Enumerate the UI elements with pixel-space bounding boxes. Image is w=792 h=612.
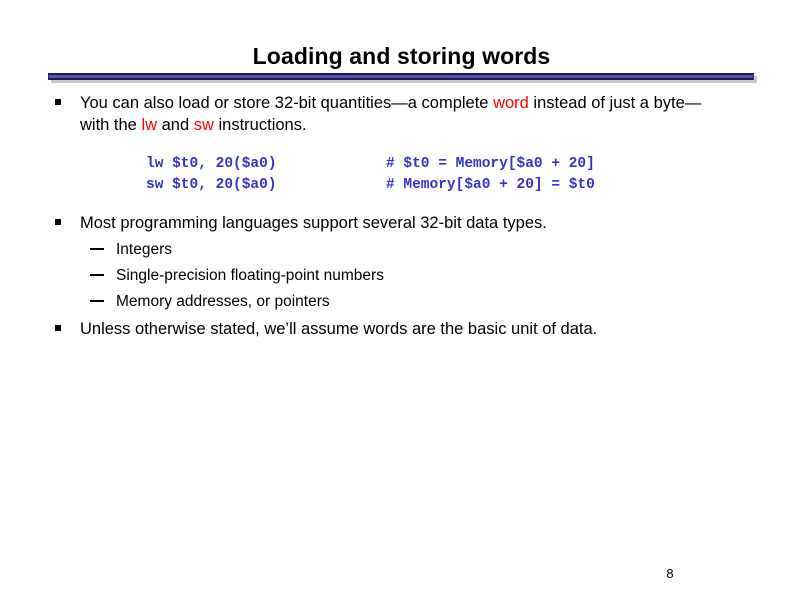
sub-bullet-item-1: Integers [0, 239, 792, 260]
bullet-1-highlight-sw: sw [194, 116, 214, 134]
bullet-item-1: You can also load or store 32-bit quanti… [0, 92, 792, 136]
sub-bullet-item-3-label: Memory addresses, or pointers [116, 293, 330, 310]
sub-bullet-item-2: Single-precision floating-point numbers [0, 265, 792, 286]
square-bullet-icon [55, 219, 61, 225]
title-underline-rule [48, 73, 756, 84]
bullet-item-1-label: You can also load or store 32-bit quanti… [80, 92, 720, 136]
sub-bullet-item-3: Memory addresses, or pointers [0, 291, 792, 312]
dash-bullet-icon [90, 248, 104, 250]
bullet-1-part4: instructions. [214, 116, 307, 134]
bullet-item-3-label: Unless otherwise stated, we’ll assume wo… [80, 318, 720, 340]
page-number: 8 [640, 566, 700, 581]
dash-bullet-icon [90, 274, 104, 276]
page-title: Loading and storing words [48, 42, 755, 70]
bullet-item-2: Most programming languages support sever… [0, 212, 792, 234]
code-block: lw $t0, 20($a0) # $t0 = Memory[$a0 + 20]… [0, 154, 792, 196]
title-rule-shadow-right [754, 76, 757, 83]
bullet-1-part1: You can also load or store 32-bit quanti… [80, 94, 493, 112]
bullet-item-3: Unless otherwise stated, we’ll assume wo… [0, 318, 792, 340]
bullet-1-part3: and [157, 116, 194, 134]
bullet-1-highlight-word: word [493, 94, 529, 112]
bullet-item-2-label: Most programming languages support sever… [80, 212, 720, 234]
bullet-1-highlight-lw: lw [141, 116, 157, 134]
title-rule-bar [48, 73, 754, 80]
code-line-2-comment: # Memory[$a0 + 20] = $t0 [386, 175, 595, 196]
square-bullet-icon [55, 99, 61, 105]
code-line-2-instruction: sw $t0, 20($a0) [146, 175, 277, 196]
slide-canvas: Loading and storing words You can also l… [0, 0, 792, 612]
code-line-2: sw $t0, 20($a0) # Memory[$a0 + 20] = $t0 [0, 175, 792, 196]
code-line-1: lw $t0, 20($a0) # $t0 = Memory[$a0 + 20] [0, 154, 792, 175]
title-rule-shadow [51, 80, 757, 83]
slide-body: You can also load or store 32-bit quanti… [0, 92, 792, 340]
square-bullet-icon [55, 325, 61, 331]
sub-bullet-item-1-label: Integers [116, 241, 172, 258]
code-line-1-comment: # $t0 = Memory[$a0 + 20] [386, 154, 595, 175]
sub-bullet-item-2-label: Single-precision floating-point numbers [116, 267, 384, 284]
code-line-1-instruction: lw $t0, 20($a0) [146, 154, 277, 175]
dash-bullet-icon [90, 300, 104, 302]
